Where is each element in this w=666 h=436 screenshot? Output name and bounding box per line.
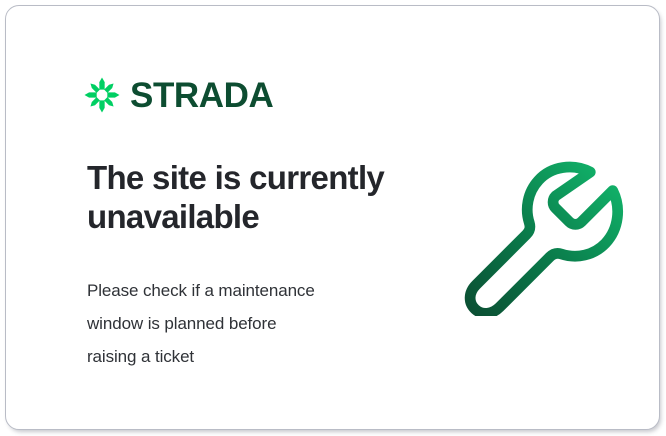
brand-wordmark: STRADA [130,78,273,113]
page-root: STRADA The site is currently unavailable… [0,0,666,436]
wrench-icon [458,154,624,316]
page-description: Please check if a maintenance window is … [87,274,397,373]
brand-lockup: STRADA [83,76,273,114]
page-title: The site is currently unavailable [87,159,417,237]
maintenance-illustration [458,154,624,316]
strada-asterisk-icon [83,76,121,114]
description-line: Please check if a maintenance [87,274,397,307]
description-line: window is planned before [87,307,397,340]
description-line: raising a ticket [87,340,397,373]
status-card: STRADA The site is currently unavailable… [5,5,660,430]
